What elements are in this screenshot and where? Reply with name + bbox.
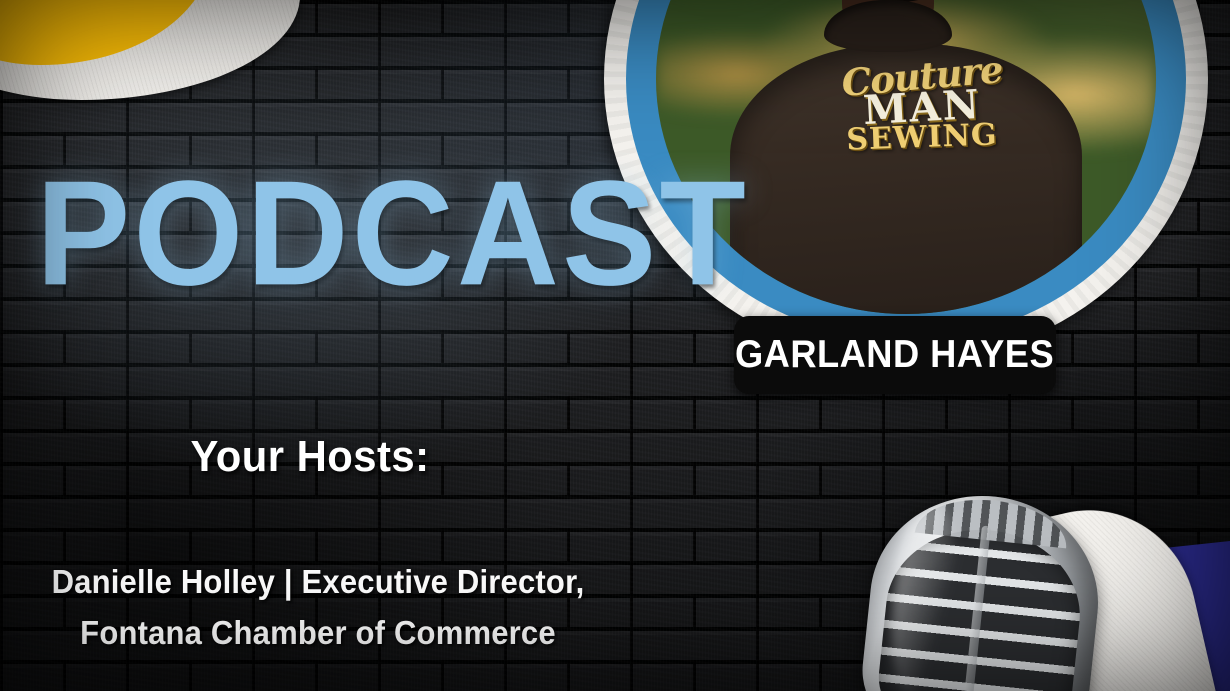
- microphone-head: [856, 485, 1109, 691]
- vintage-microphone: [868, 496, 1096, 691]
- host-line-1: Danielle Holley | Executive Director,: [19, 556, 617, 607]
- hosts-label: Your Hosts:: [16, 432, 605, 482]
- guest-nameplate: GARLAND HAYES: [734, 316, 1056, 394]
- hosts-list: Danielle Holley | Executive Director, Fo…: [19, 556, 617, 683]
- podcast-promo-poster: Couture MAN SEWING GARLAND HAYES PODCAST…: [0, 0, 1230, 691]
- hosts-spacer: [19, 659, 617, 683]
- guest-name: GARLAND HAYES: [735, 333, 1054, 377]
- shirt-logo: Couture MAN SEWING: [828, 58, 1016, 166]
- shirt-logo-line-3: SEWING: [828, 120, 1017, 157]
- host-line-2: Fontana Chamber of Commerce: [19, 607, 617, 658]
- podcast-headline: PODCAST: [36, 159, 749, 308]
